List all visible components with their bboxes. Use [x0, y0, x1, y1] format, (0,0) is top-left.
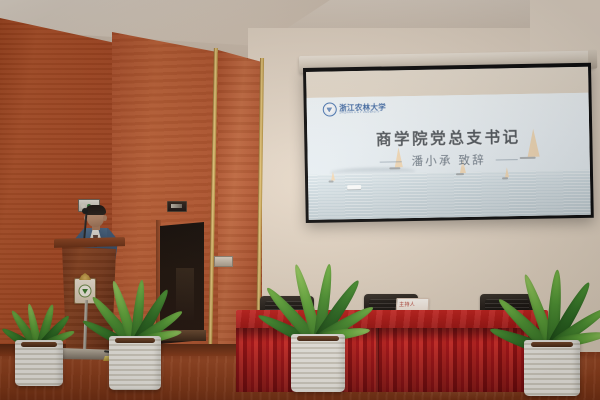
- pot-soil: [21, 342, 57, 347]
- table-cloth-seam: [376, 328, 379, 392]
- potted-plant: [504, 254, 600, 396]
- plant-pot: [15, 340, 63, 386]
- rule-right: [496, 159, 518, 160]
- potted-plant: [92, 262, 178, 390]
- presentation-slide: 浙江农林大学 ZHEJIANG A & F UNIVERSITY 商学院党总支书…: [307, 93, 591, 220]
- speaker-ear-right: [103, 215, 107, 221]
- ferry-boat: [348, 185, 362, 189]
- rule-left: [380, 161, 402, 162]
- university-seal-icon: [79, 285, 92, 298]
- wall-socket-plate: [214, 256, 233, 267]
- wood-pillar: [218, 50, 262, 350]
- plant-pot: [291, 334, 345, 392]
- plant-pot: [524, 340, 580, 396]
- pot-soil: [297, 336, 338, 341]
- potted-plant: [272, 248, 364, 392]
- photo-scene: 浙江农林大学 ZHEJIANG A & F UNIVERSITY 商学院党总支书…: [0, 0, 600, 400]
- plant-pot: [109, 336, 161, 390]
- potted-plant: [4, 282, 74, 386]
- pot-soil: [115, 338, 155, 343]
- placard-text: 主持人: [399, 301, 426, 308]
- pot-soil: [531, 342, 574, 347]
- projection-screen: 浙江农林大学 ZHEJIANG A & F UNIVERSITY 商学院党总支书…: [303, 63, 594, 223]
- slide-subtitle: 潘小承 致辞: [411, 152, 486, 169]
- logo-chinese-text: 浙江农林大学: [339, 104, 386, 112]
- university-seal-icon: [322, 103, 336, 117]
- speaker-hair: [85, 205, 106, 215]
- podium-desktop: [54, 237, 125, 248]
- slide-sea: [308, 170, 591, 220]
- slide-university-logo: 浙江农林大学 ZHEJIANG A & F UNIVERSITY: [322, 102, 386, 117]
- exit-sign-icon: [167, 201, 187, 212]
- screen-surface: 浙江农林大学 ZHEJIANG A & F UNIVERSITY 商学院党总支书…: [306, 67, 591, 220]
- microphone-icon: [82, 208, 88, 214]
